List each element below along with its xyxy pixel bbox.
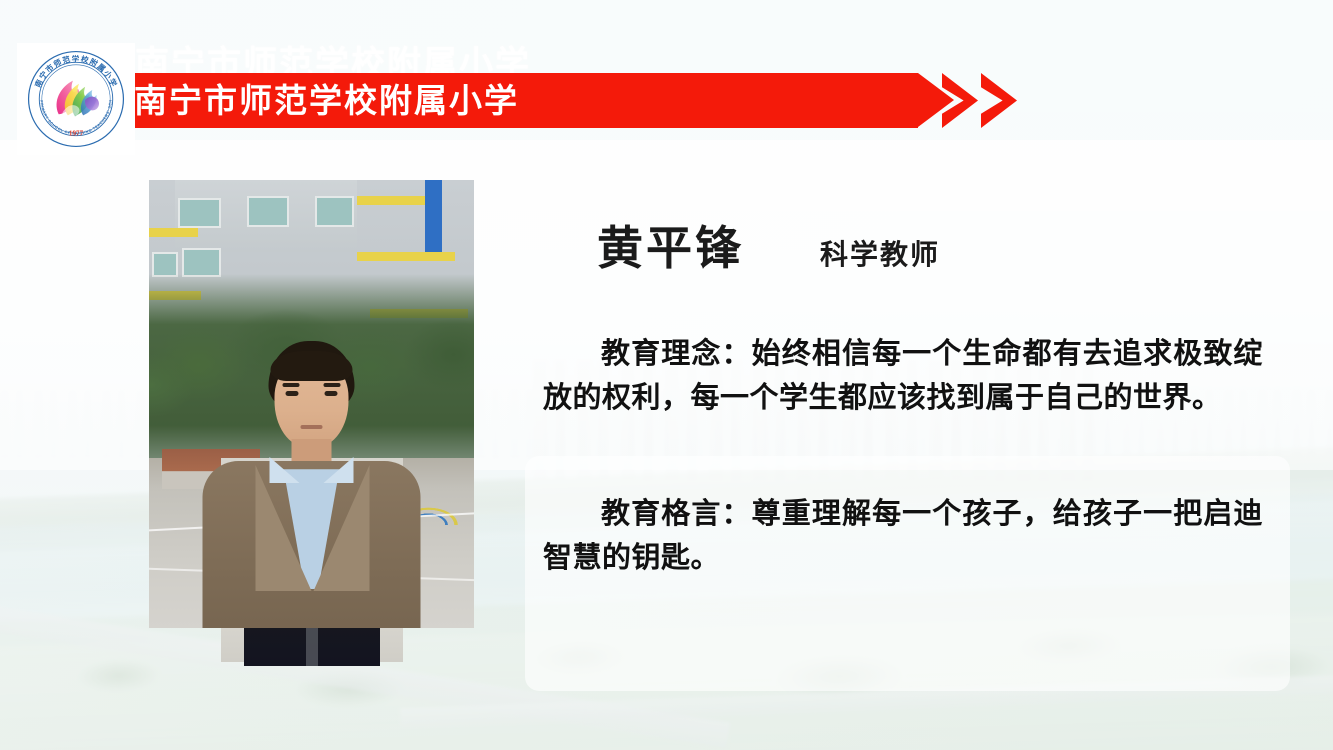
photo-window [315,196,354,226]
photo-window [247,196,289,226]
education-philosophy-text: 教育理念：始终相信每一个生命都有去追求极致绽放的权利，每一个学生都应该找到属于自… [543,332,1263,420]
school-logo-box: 南宁市师范学校附属小学 THE PRIMARY SCHOOL OF NANNIN… [17,43,135,155]
photo-blue-column [425,180,441,252]
photo-balcony [357,252,455,261]
teacher-name: 黄平锋 [597,219,744,277]
person-eye [286,391,299,396]
slide-canvas: 南宁市师范学校附属小学 南宁市师范学校附属小学 [0,0,1333,750]
photo-balcony [149,228,198,237]
photo-window [182,248,221,277]
person-mouth [301,425,323,429]
person-eyebrow [283,383,300,387]
person-collar-left [270,457,300,483]
person-eyebrow [324,383,341,387]
person-lapel-right [314,465,370,591]
teacher-photo [149,180,474,628]
education-motto-text: 教育格言：尊重理解每一个孩子，给孩子一把启迪智慧的钥匙。 [543,492,1263,580]
photo-window [152,252,178,277]
school-title: 南宁市师范学校附属小学 [134,80,519,122]
person-fringe [271,351,353,381]
photo-window [178,198,220,228]
slide-header: 南宁市师范学校附属小学 南宁市师范学校附属小学 [0,0,1333,175]
photo-person [149,341,474,628]
teacher-role: 科学教师 [820,226,940,284]
chevron-right-icon-2 [981,73,1017,128]
person-eye [325,391,338,396]
person-collar-right [324,457,354,483]
photo-balcony [357,196,435,205]
teacher-identity: 黄平锋 科学教师 [597,219,940,284]
svg-text:1977: 1977 [69,130,84,138]
person-lapel-left [256,465,312,591]
school-emblem-icon: 南宁市师范学校附属小学 THE PRIMARY SCHOOL OF NANNIN… [25,48,127,150]
